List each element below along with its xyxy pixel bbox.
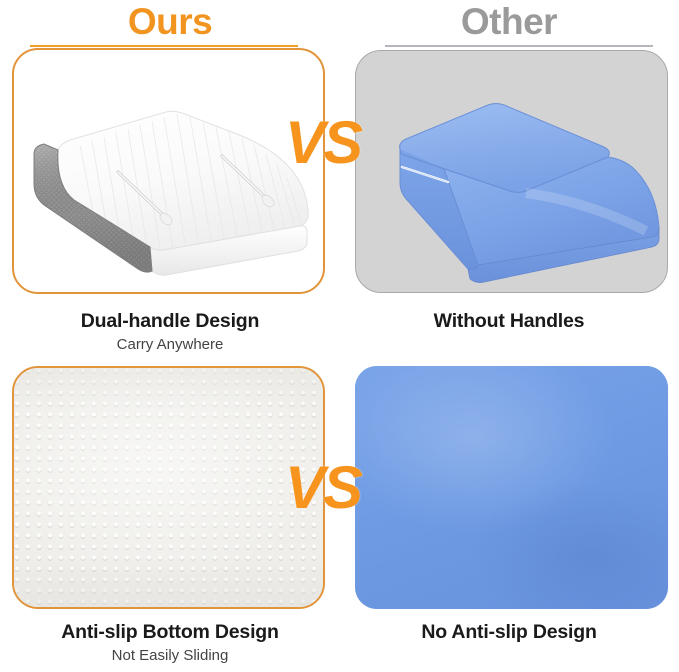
column-header-ours: Ours (0, 0, 340, 44)
column-header-other: Other (339, 0, 679, 44)
caption-other-no-anti-slip: No Anti-slip Design (339, 620, 679, 646)
caption-title: Anti-slip Bottom Design (0, 620, 340, 644)
caption-ours-dual-handle: Dual-handle Design Carry Anywhere (0, 309, 340, 355)
panel-other-without-handles (355, 50, 668, 293)
blue-wedge-pillow-icon (356, 51, 668, 293)
caption-ours-anti-slip: Anti-slip Bottom Design Not Easily Slidi… (0, 620, 340, 666)
header-underline-ours (30, 45, 298, 47)
plain-blue-fabric-surface (355, 366, 668, 609)
vs-badge-top: VS (285, 113, 361, 173)
header-underline-other (385, 45, 653, 47)
vs-badge-bottom: VS (285, 458, 361, 518)
caption-subtitle: Carry Anywhere (0, 335, 340, 355)
white-wedge-pillow-icon (14, 50, 325, 294)
caption-other-without-handles: Without Handles (339, 309, 679, 335)
anti-slip-shading-overlay (14, 368, 323, 607)
comparison-header: Ours Other (0, 0, 679, 48)
white-wedge-pillow-image (14, 50, 325, 294)
caption-title: Without Handles (339, 309, 679, 333)
caption-subtitle: Not Easily Sliding (0, 646, 340, 666)
caption-title: Dual-handle Design (0, 309, 340, 333)
panel-ours-dual-handle (12, 48, 325, 294)
caption-title: No Anti-slip Design (339, 620, 679, 644)
panel-ours-anti-slip (12, 366, 325, 609)
panel-other-no-anti-slip (355, 366, 668, 609)
